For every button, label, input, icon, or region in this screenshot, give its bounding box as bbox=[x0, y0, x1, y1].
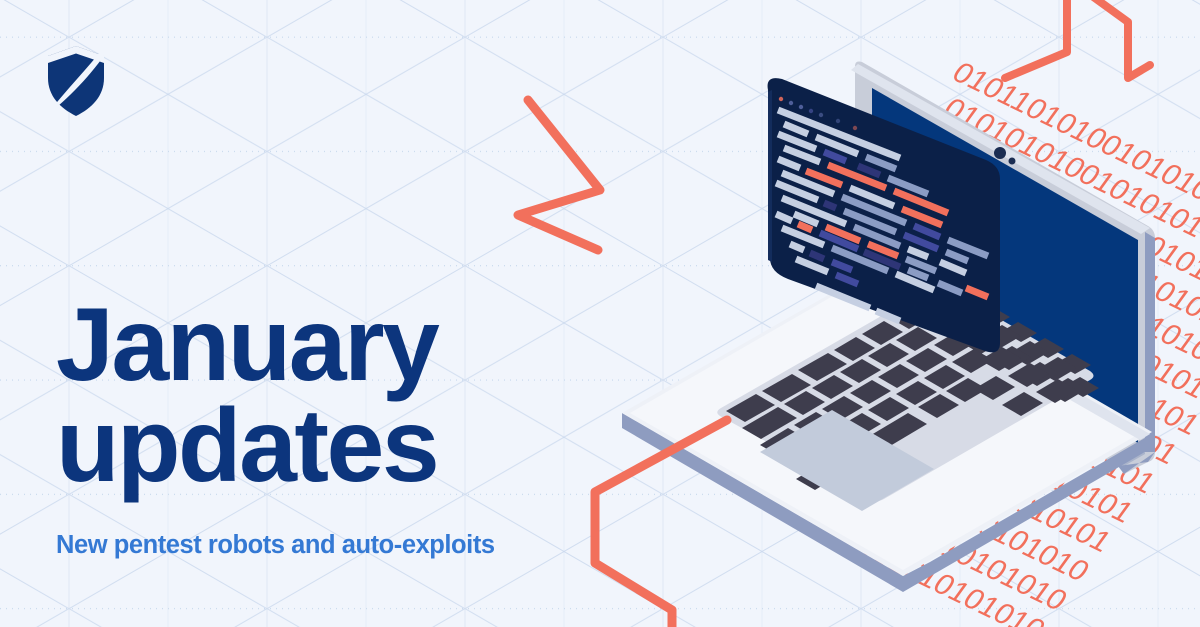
accent-zigzag-left-icon bbox=[518, 100, 600, 250]
page-title: January updates bbox=[56, 295, 576, 497]
accent-zigzag-top-right-icon bbox=[1005, 0, 1150, 78]
camera-lens-icon bbox=[994, 147, 1006, 159]
camera-indicator-icon bbox=[1009, 158, 1016, 165]
banner-root: 0101101010010101010101010 01010101001010… bbox=[0, 0, 1200, 627]
page-subtitle: New pentest robots and auto-exploits bbox=[56, 531, 576, 560]
headline-block: January updates New pentest robots and a… bbox=[56, 295, 576, 560]
